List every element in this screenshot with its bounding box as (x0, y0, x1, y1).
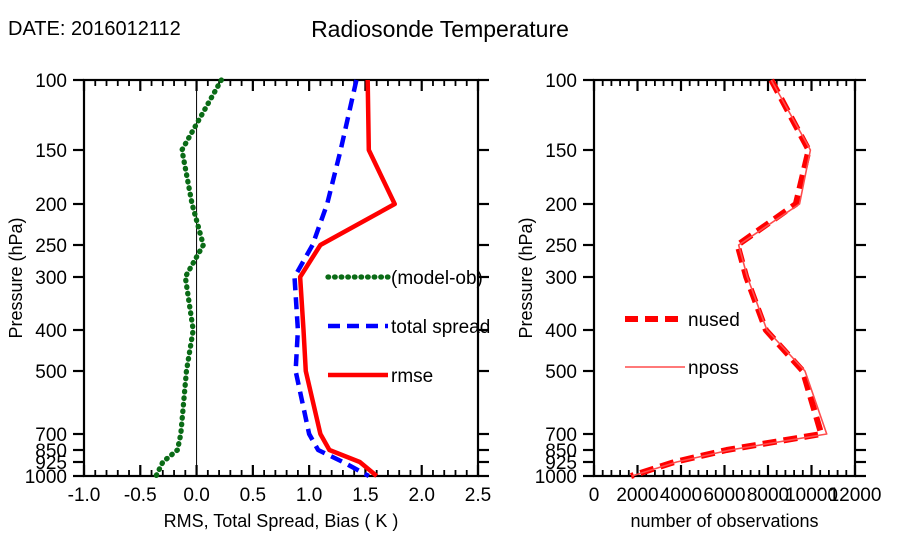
left-panel-yticklabel: 1000 (25, 467, 67, 488)
left-panel-yticklabel: 200 (35, 195, 67, 216)
left-panel-yticklabel: 100 (35, 71, 67, 92)
legend-label-nposs: nposs (688, 358, 739, 379)
left-panel-yticklabel: 250 (35, 236, 67, 257)
left-panel-yticklabel: 400 (35, 321, 67, 342)
chart-canvas: -1.0-0.50.00.51.01.52.02.510015020025030… (0, 0, 900, 560)
right-panel-xticklabel: 2000 (616, 485, 658, 506)
right-panel-yticklabel: 300 (545, 268, 577, 289)
left-panel-series-modelob (156, 80, 221, 476)
left-panel-xaxis-title: RMS, Total Spread, Bias ( K ) (164, 511, 399, 531)
legend-label-rmse: rmse (391, 366, 433, 387)
left-panel-yticklabel: 300 (35, 268, 67, 289)
left-panel-xticklabel: 1.0 (296, 485, 322, 506)
legend-label-nused: nused (688, 310, 740, 331)
chart-page: DATE: 2016012112 Radiosonde Temperature … (0, 0, 900, 560)
left-panel-xticklabel: 2.5 (465, 485, 491, 506)
left-panel-xticklabel: -0.5 (124, 485, 157, 506)
legend-label-modelob: (model-ob) (391, 268, 483, 289)
right-panel-yaxis-title: Pressure (hPa) (516, 217, 536, 338)
right-panel-yticklabel: 1000 (535, 467, 577, 488)
right-panel-xaxis-title: number of observations (630, 511, 818, 531)
right-panel-plot-frame (594, 80, 855, 476)
right-panel-xticklabel: 8000 (747, 485, 789, 506)
left-panel-yaxis-title: Pressure (hPa) (6, 217, 26, 338)
left-panel-yticklabel: 500 (35, 362, 67, 383)
left-panel-xticklabel: 1.5 (352, 485, 378, 506)
right-panel-series-nposs (632, 80, 827, 476)
right-panel-yticklabel: 250 (545, 236, 577, 257)
left-panel-yticklabel: 150 (35, 141, 67, 162)
right-panel-xticklabel: 0 (589, 485, 600, 506)
right-panel-yticklabel: 500 (545, 362, 577, 383)
right-panel-xticklabel: 12000 (829, 485, 882, 506)
left-panel-xticklabel: 2.0 (409, 485, 435, 506)
right-panel-yticklabel: 150 (545, 141, 577, 162)
right-panel-yticklabel: 200 (545, 195, 577, 216)
right-panel-series-nused (631, 80, 821, 476)
left-panel-series-totalspread (295, 80, 369, 476)
left-panel-xticklabel: -1.0 (68, 485, 101, 506)
right-panel-yticklabel: 400 (545, 321, 577, 342)
left-panel-xticklabel: 0.5 (240, 485, 266, 506)
right-panel-xticklabel: 4000 (660, 485, 702, 506)
left-panel-xticklabel: 0.0 (183, 485, 209, 506)
legend-label-totalspread: total spread (391, 317, 490, 338)
right-panel-yticklabel: 100 (545, 71, 577, 92)
right-panel-xticklabel: 6000 (703, 485, 745, 506)
